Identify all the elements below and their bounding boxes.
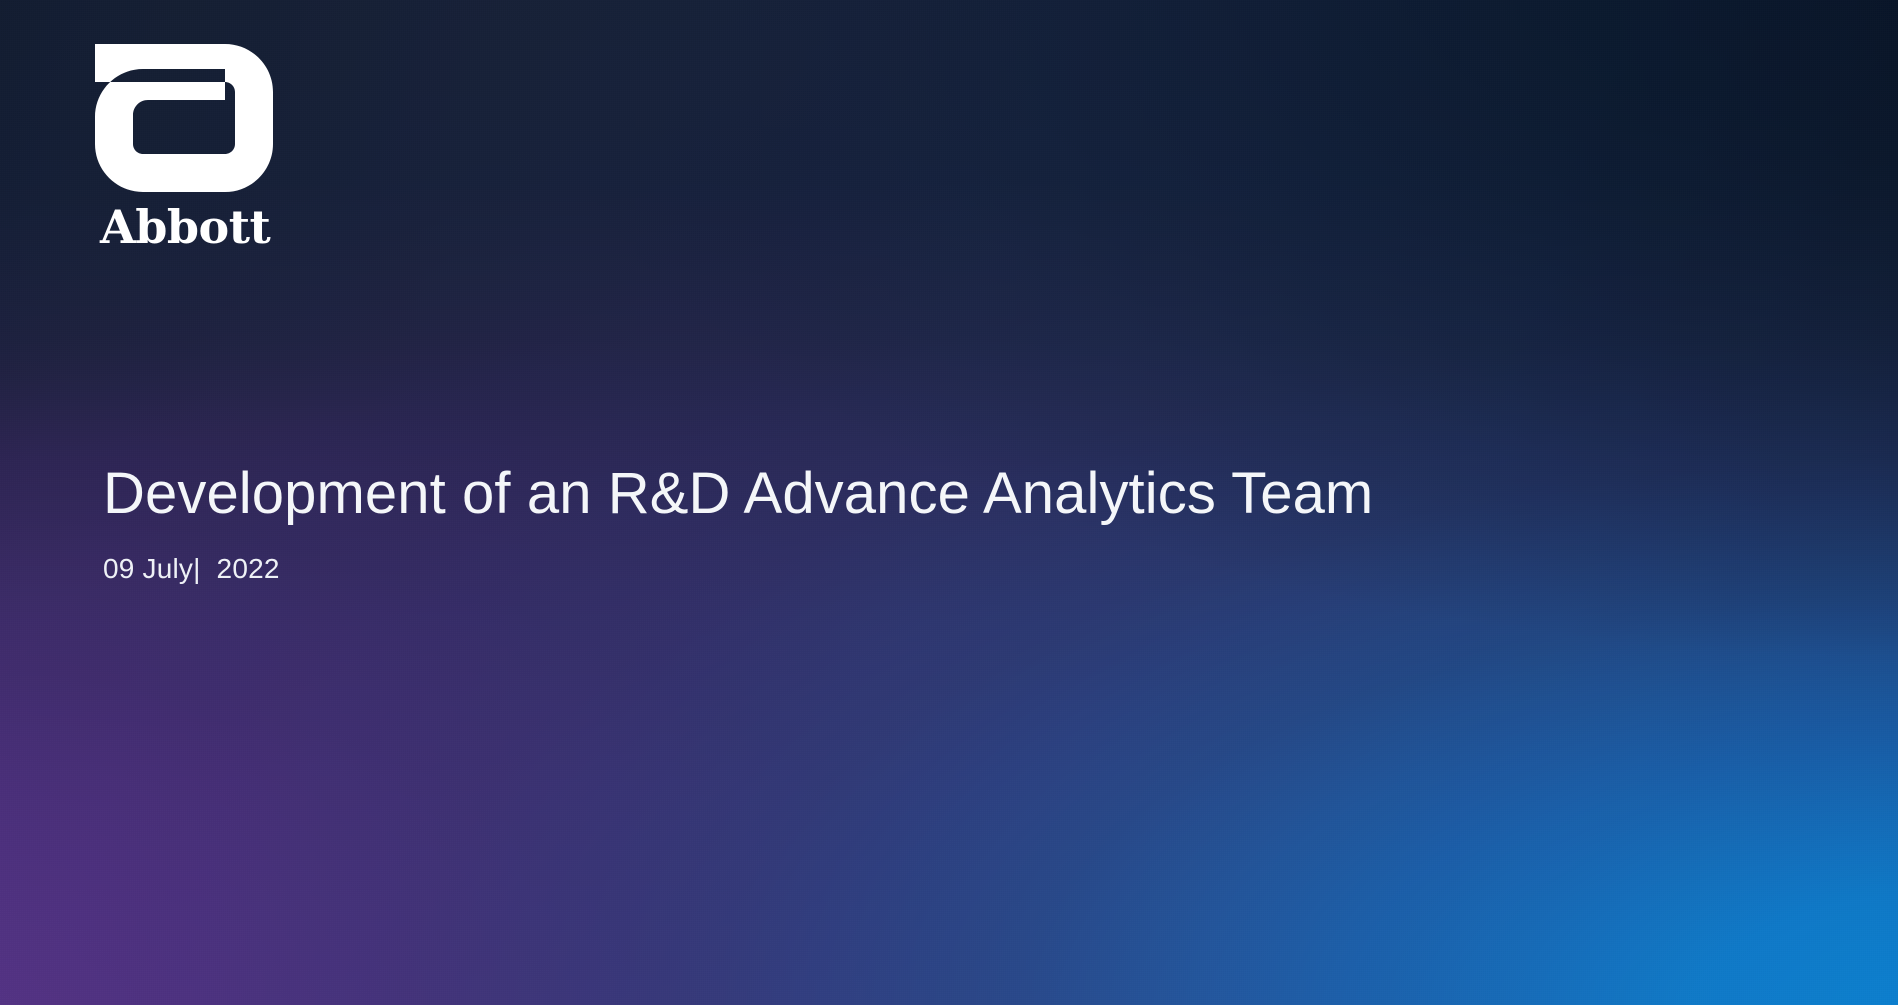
title-block: Development of an R&D Advance Analytics … [103,462,1803,586]
abbott-logo: Abbott [95,44,295,250]
title-slide: Abbott Development of an R&D Advance Ana… [0,0,1898,1005]
page-title: Development of an R&D Advance Analytics … [103,462,1803,527]
abbott-a-symbol-icon [95,44,273,192]
slide-date: 09 July| 2022 [103,552,1803,586]
abbott-wordmark: Abbott [100,204,295,250]
